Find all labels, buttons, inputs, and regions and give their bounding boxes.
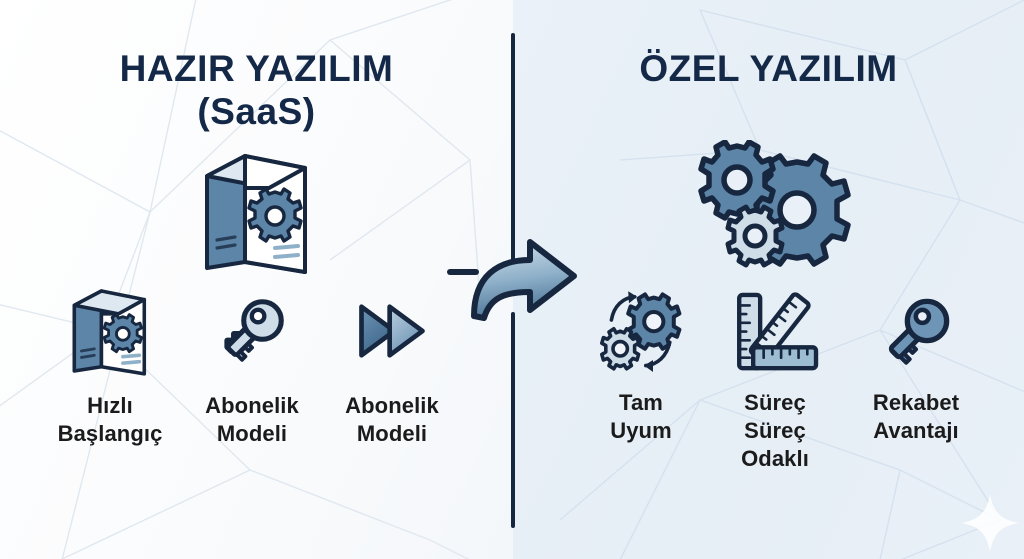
left-hero-icon-software-box xyxy=(197,142,317,287)
right-item-2-label: Süreç Süreç Odaklı xyxy=(702,389,848,473)
fast-forward-icon xyxy=(322,281,462,386)
left-item-1: Hızlı Başlangıç xyxy=(40,281,180,448)
left-item-2-label: Abonelik Modeli xyxy=(182,392,322,448)
right-title-line-1: ÖZEL YAZILIM xyxy=(639,48,897,89)
left-title-line-2: (SaaS) xyxy=(0,91,513,134)
four-point-star-sparkle-icon xyxy=(955,488,1024,558)
three-gears-icon xyxy=(693,140,853,272)
curved-right-arrow-icon xyxy=(470,232,580,337)
right-item-2: Süreç Süreç Odaklı xyxy=(702,286,848,473)
gears-refresh-icon xyxy=(568,286,714,383)
left-item-2: Abonelik Modeli xyxy=(182,281,322,448)
center-divider-lower xyxy=(511,312,515,528)
left-item-1-label: Hızlı Başlangıç xyxy=(40,392,180,448)
infographic-canvas: HAZIR YAZILIM (SaaS) ÖZEL YAZILIM xyxy=(0,0,1024,559)
left-title-line-1: HAZIR YAZILIM xyxy=(120,48,394,89)
left-item-3-label: Abonelik Modeli xyxy=(322,392,462,448)
right-item-1: Tam Uyum xyxy=(568,286,714,445)
software-box-gear-icon xyxy=(40,281,180,386)
right-column-title: ÖZEL YAZILIM xyxy=(513,48,1024,91)
key-icon xyxy=(182,281,322,386)
right-item-3-label: Rekabet Avantajı xyxy=(843,389,989,445)
key-icon xyxy=(843,286,989,383)
right-hero-icon-three-gears xyxy=(693,140,853,277)
left-item-3: Abonelik Modeli xyxy=(322,281,462,448)
software-box-gear-icon xyxy=(197,142,317,282)
right-item-1-label: Tam Uyum xyxy=(568,389,714,445)
rulers-icon xyxy=(702,286,848,383)
left-column-title: HAZIR YAZILIM (SaaS) xyxy=(0,48,513,134)
right-item-3: Rekabet Avantajı xyxy=(843,286,989,445)
